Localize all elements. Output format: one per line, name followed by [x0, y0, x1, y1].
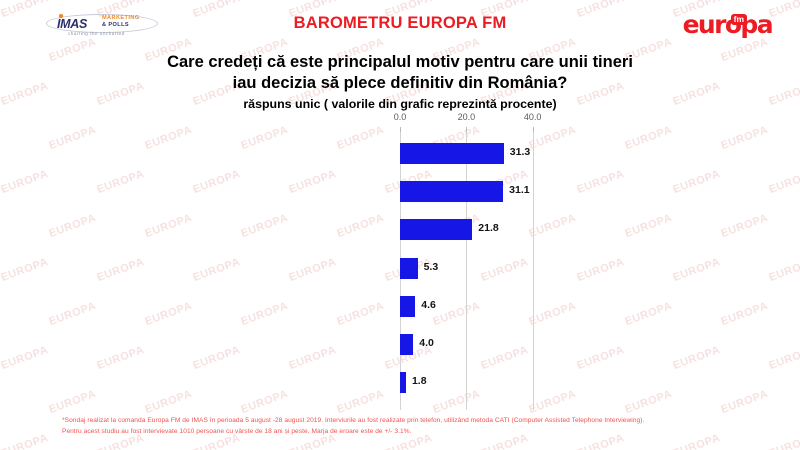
bar-row: 4.6Nu există șanse de a avansaîn carieră: [400, 296, 599, 317]
bar-row: 1.8Nu știu / Nu răspund: [400, 372, 599, 393]
slide-canvas: IMAS MARKETING & POLLS charting the unch…: [0, 0, 800, 450]
europa-fm-wordmark: europa: [683, 10, 772, 39]
bar-row: 21.8Lipsa locurilor de muncă: [400, 219, 599, 240]
axis-tick: [400, 127, 401, 132]
bar-value-label: 31.3: [510, 146, 530, 158]
bar: [400, 143, 504, 164]
bar-chart: 0.020.040.031.3Neîncrederea în autorităț…: [0, 110, 800, 410]
page-title: BAROMETRU EUROPA FM: [0, 14, 800, 33]
europa-fm-badge: fm: [731, 14, 747, 25]
bar: [400, 258, 418, 279]
footnote-line-1: *Sondaj realizat la comanda Europa FM de…: [62, 416, 752, 427]
question-line-2: iau decizia să plece definitiv din Român…: [40, 73, 760, 94]
slide-header: IMAS MARKETING & POLLS charting the unch…: [0, 0, 800, 48]
axis-tick: [466, 127, 467, 132]
bar-row: 5.3Lipsa infrastructurii - drumuri,spita…: [400, 258, 599, 279]
europa-fm-logo: europa fm: [683, 12, 772, 38]
axis-tick: [533, 127, 534, 132]
footnote-line-2: Pentru acest studiu au fost intervievate…: [62, 427, 752, 438]
axis-tick-label: 0.0: [394, 112, 407, 122]
bar: [400, 334, 413, 355]
bar: [400, 372, 406, 393]
bar-row: 31.3Neîncrederea în autorități /corupția: [400, 143, 599, 164]
question-line-1: Care credeți că este principalul motiv p…: [40, 52, 760, 73]
bar-value-label: 21.8: [478, 222, 498, 234]
bar-row: 4.0Alt motiv: [400, 334, 599, 355]
bar: [400, 219, 472, 240]
bar: [400, 296, 415, 317]
bar-value-label: 4.0: [419, 337, 434, 349]
axis-tick-label: 40.0: [524, 112, 542, 122]
bar-row: 31.1Nivelul de trai scăzut: [400, 181, 599, 202]
bar: [400, 181, 503, 202]
question-block: Care credeți că este principalul motiv p…: [40, 52, 760, 113]
bar-value-label: 5.3: [424, 261, 439, 273]
footnote: *Sondaj realizat la comanda Europa FM de…: [62, 416, 752, 437]
bar-value-label: 4.6: [421, 299, 436, 311]
bar-value-label: 1.8: [412, 375, 427, 387]
plot-area: 0.020.040.031.3Neîncrederea în autorităț…: [400, 132, 599, 410]
bar-value-label: 31.1: [509, 184, 529, 196]
axis-tick-label: 20.0: [458, 112, 476, 122]
